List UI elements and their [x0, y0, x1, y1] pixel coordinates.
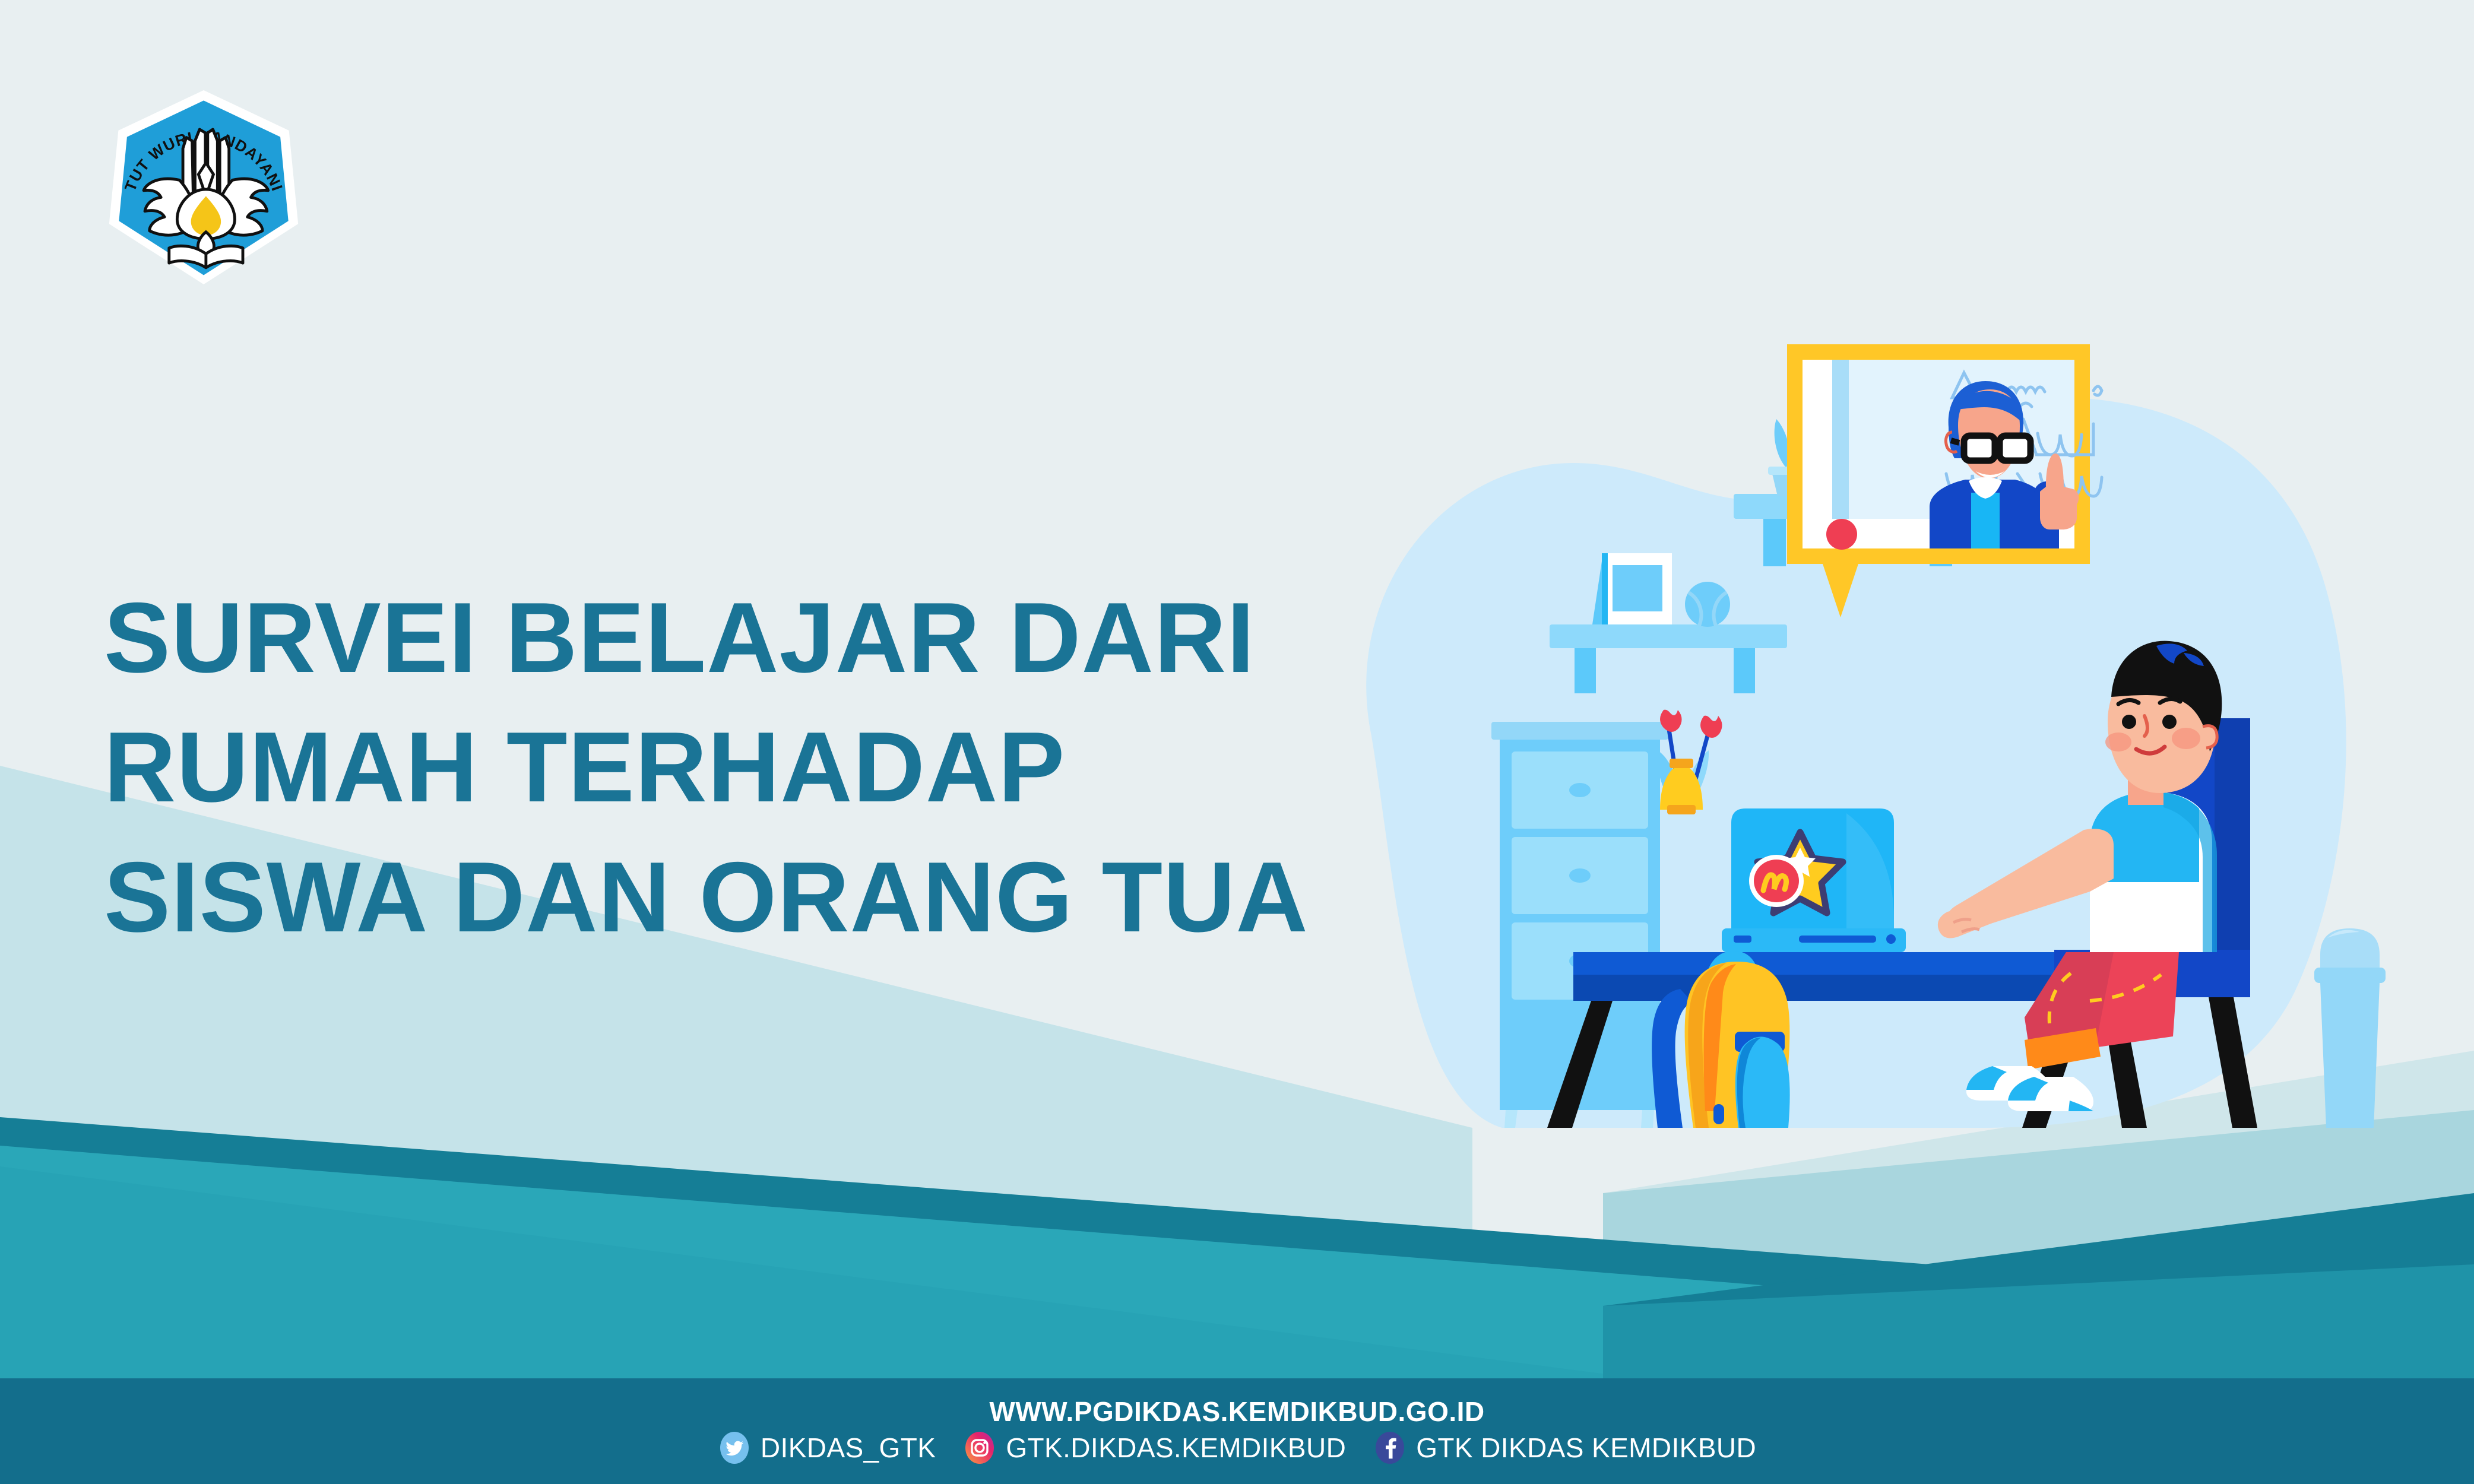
ball-icon	[1685, 582, 1730, 627]
twitter-handle: DIKDAS_GTK	[761, 1434, 936, 1461]
title-line-2: RUMAH TERHADAP	[104, 702, 1410, 832]
social-twitter[interactable]: DIKDAS_GTK	[718, 1431, 936, 1464]
tut-wuri-handayani-logo: TUT WURI HANDAYANI	[106, 88, 302, 287]
website-url[interactable]: WWW.PGDIKDAS.KEMDIKBUD.GO.ID	[989, 1398, 1484, 1425]
laptop	[1722, 808, 1906, 952]
social-instagram[interactable]: GTK.DIKDAS.KEMDIKBUD	[963, 1431, 1346, 1464]
title-line-1: SURVEI BELAJAR DARI	[104, 573, 1410, 702]
illustration-student-learning-from-home	[1324, 285, 2452, 1128]
facebook-handle: GTK DIKDAS KEMDIKBUD	[1416, 1434, 1756, 1461]
student-eye-left	[2122, 715, 2136, 729]
whiteboard-edge	[1832, 360, 1849, 519]
trash-bin	[2314, 928, 2386, 1128]
social-facebook[interactable]: GTK DIKDAS KEMDIKBUD	[1373, 1431, 1756, 1464]
instagram-handle: GTK.DIKDAS.KEMDIKBUD	[1006, 1434, 1346, 1461]
teacher-shirt	[1971, 493, 2000, 548]
facebook-icon[interactable]	[1373, 1431, 1407, 1464]
poster-canvas: TUT WURI HANDAYANI	[0, 0, 2474, 1484]
social-links: DIKDAS_GTK	[718, 1431, 1756, 1464]
twitter-icon[interactable]	[718, 1431, 751, 1464]
glasses-icon	[1951, 436, 2030, 461]
logo-icon: TUT WURI HANDAYANI	[106, 88, 302, 287]
instagram-icon[interactable]	[963, 1431, 996, 1464]
title-line-3: SISWA DAN ORANG TUA	[104, 832, 1410, 962]
recording-indicator	[1826, 519, 1857, 550]
poster-title: SURVEI BELAJAR DARI RUMAH TERHADAP SISWA…	[104, 573, 1410, 962]
illustration-svg	[1324, 285, 2452, 1128]
picture-frame-icon	[1592, 553, 1672, 624]
footer-bar: WWW.PGDIKDAS.KEMDIKBUD.GO.ID DIKDAS_GTK	[0, 1378, 2474, 1484]
student-eye-right	[2162, 715, 2177, 729]
